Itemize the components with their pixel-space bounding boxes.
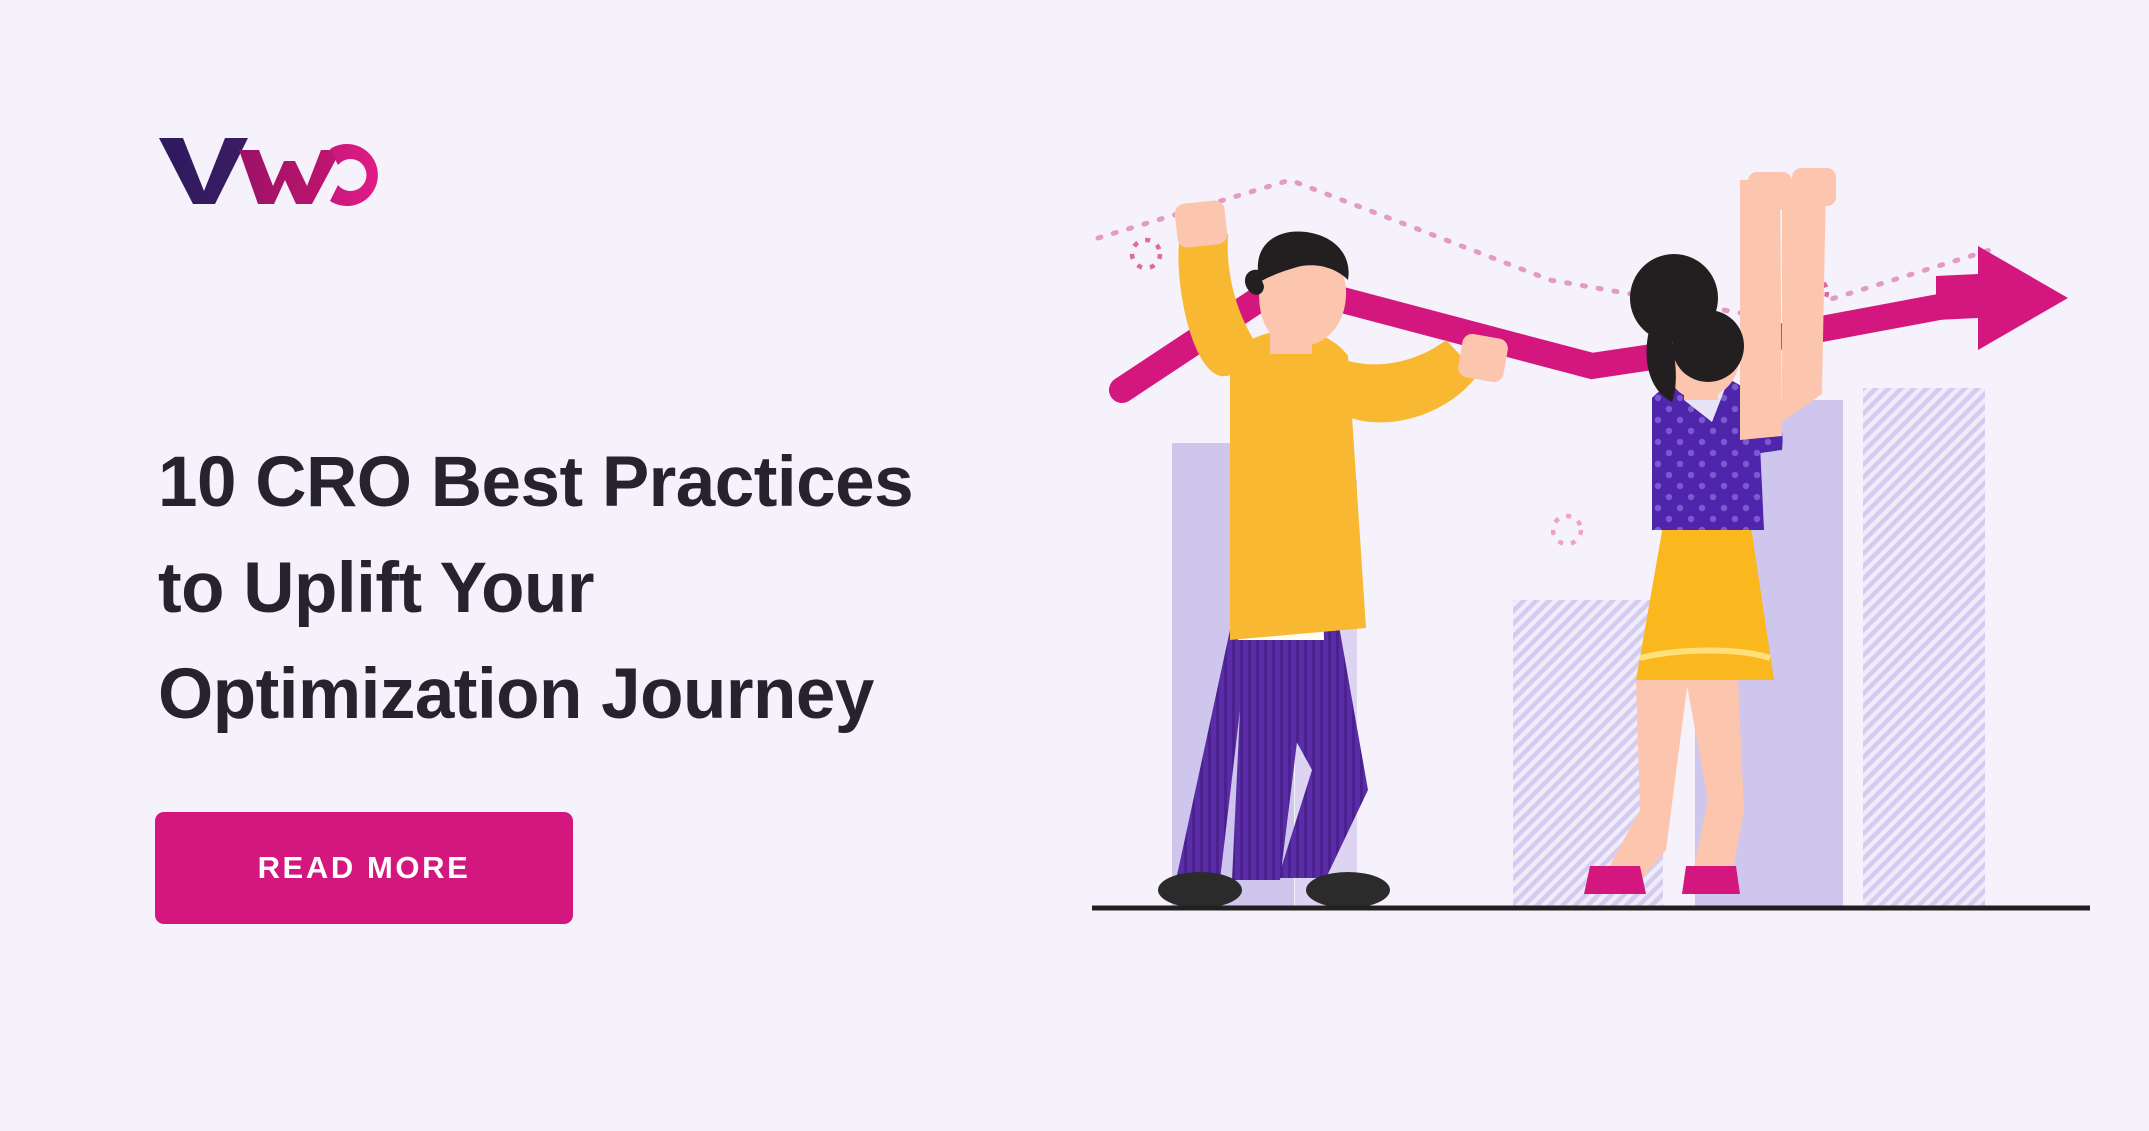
- vwo-logo-mark: [155, 128, 385, 208]
- logo-letter-o: [330, 144, 378, 206]
- woman-hand-right: [1748, 172, 1792, 210]
- hero-illustration: [1080, 150, 2100, 940]
- dotted-circle-1: [1132, 240, 1160, 268]
- headline-line-3: Optimization Journey: [158, 642, 1018, 748]
- logo-letter-w: [239, 150, 341, 204]
- man-shoe-left: [1158, 872, 1242, 908]
- woman-hair-bun-bottom: [1672, 310, 1744, 382]
- logo-letter-v: [159, 138, 248, 204]
- woman-shoe-left: [1584, 866, 1646, 894]
- headline-line-1: 10 CRO Best Practices: [158, 430, 1018, 536]
- man-hand-right: [1457, 332, 1510, 383]
- page-title: 10 CRO Best Practices to Uplift Your Opt…: [158, 430, 1018, 748]
- woman-forearm-right: [1740, 180, 1782, 440]
- woman-shoe-right: [1682, 866, 1740, 894]
- man-hand-left: [1174, 200, 1228, 249]
- vwo-logo[interactable]: [155, 128, 385, 208]
- dotted-circle-3: [1553, 516, 1581, 544]
- headline-line-2: to Uplift Your: [158, 536, 1018, 642]
- woman-hand-left: [1792, 168, 1836, 206]
- man-shoe-right: [1306, 872, 1390, 908]
- woman-leg-right: [1686, 680, 1744, 886]
- read-more-button[interactable]: READ MORE: [155, 812, 573, 924]
- woman-forearm-left: [1782, 180, 1826, 422]
- promo-banner: 10 CRO Best Practices to Uplift Your Opt…: [0, 0, 2149, 1131]
- man-arm-right: [1322, 340, 1478, 422]
- bar-4-hatched: [1863, 388, 1985, 910]
